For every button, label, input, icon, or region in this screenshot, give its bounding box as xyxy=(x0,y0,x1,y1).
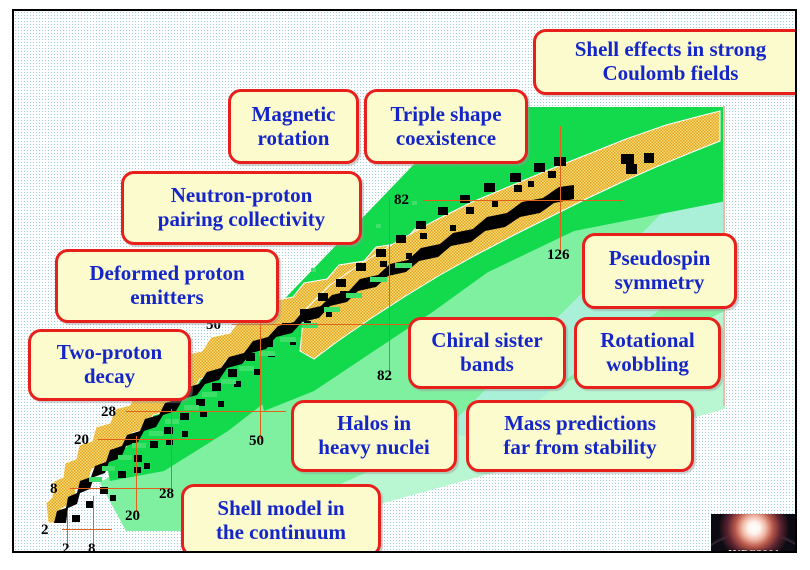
callout-line: Coulomb fields xyxy=(569,62,773,86)
callout-halos-heavy-nuclei[interactable]: Halos in heavy nuclei xyxy=(291,400,457,472)
callout-line: decay xyxy=(51,365,168,389)
callout-triple-shape-coexistence[interactable]: Triple shape coexistence xyxy=(364,89,528,164)
magic-line-n-28 xyxy=(171,409,172,493)
slide-frame: 2 8 20 28 50 82 2 8 20 28 50 82 126 Shel… xyxy=(12,9,797,553)
callout-shell-model-continuum[interactable]: Shell model in the continuum xyxy=(181,484,381,553)
magic-label-n-82: 82 xyxy=(377,369,392,384)
magic-line-n-82 xyxy=(389,197,390,375)
magic-line-n-50 xyxy=(260,321,261,439)
magic-line-n-20 xyxy=(136,436,137,512)
callout-line: Rotational xyxy=(594,329,701,353)
callout-line: wobbling xyxy=(594,353,701,377)
callout-line: Chiral sister xyxy=(425,329,548,353)
magic-label-n-50: 50 xyxy=(249,434,264,449)
magic-line-z-8 xyxy=(70,488,170,489)
callout-chiral-sister-bands[interactable]: Chiral sister bands xyxy=(408,317,566,389)
callout-shell-effects-label: Shell effects in strong Coulomb fields xyxy=(563,38,779,85)
magic-line-n-8 xyxy=(93,496,94,546)
callout-halos-label: Halos in heavy nuclei xyxy=(306,412,441,459)
magic-label-n-28: 28 xyxy=(159,487,174,502)
callout-line: Mass predictions xyxy=(497,412,662,436)
magic-line-z-82 xyxy=(423,200,623,201)
callout-shell-effects[interactable]: Shell effects in strong Coulomb fields xyxy=(533,29,797,95)
callout-triple-shape-label: Triple shape coexistence xyxy=(378,103,513,150)
magic-label-n-8: 8 xyxy=(88,542,96,553)
callout-line: pairing collectivity xyxy=(152,208,331,232)
callout-line: symmetry xyxy=(603,271,717,295)
magic-line-z-2 xyxy=(62,529,112,530)
callout-deformed-proton-emitters[interactable]: Deformed proton emitters xyxy=(55,249,279,323)
magic-line-z-20 xyxy=(98,439,213,440)
callout-deformed-proton-label: Deformed proton emitters xyxy=(77,262,256,309)
callout-rotational-wobbling-label: Rotational wobbling xyxy=(588,329,707,376)
callout-np-pairing-label: Neutron-proton pairing collectivity xyxy=(146,184,337,231)
logo-text: INPC2001 xyxy=(711,548,797,553)
callout-pseudospin-symmetry[interactable]: Pseudospin symmetry xyxy=(582,233,737,309)
magic-label-z-82: 82 xyxy=(394,193,409,208)
callout-two-proton-decay[interactable]: Two-proton decay xyxy=(28,329,191,401)
callout-line: Deformed proton xyxy=(83,262,250,286)
magic-label-z-20: 20 xyxy=(74,433,89,448)
magic-label-n-2: 2 xyxy=(62,542,70,553)
callout-line: Magnetic xyxy=(246,103,342,127)
callout-line: coexistence xyxy=(384,127,507,151)
callout-line: Shell effects in strong xyxy=(569,38,773,62)
magic-label-n-126: 126 xyxy=(547,248,570,263)
callout-line: Halos in xyxy=(312,412,435,436)
callout-mass-predictions[interactable]: Mass predictions far from stability xyxy=(466,400,694,472)
callout-two-proton-decay-label: Two-proton decay xyxy=(45,341,174,388)
callout-line: Two-proton xyxy=(51,341,168,365)
callout-rotational-wobbling[interactable]: Rotational wobbling xyxy=(574,317,721,389)
callout-line: bands xyxy=(425,353,548,377)
callout-line: rotation xyxy=(246,127,342,151)
callout-line: Pseudospin xyxy=(603,247,717,271)
callout-line: Triple shape xyxy=(384,103,507,127)
callout-line: emitters xyxy=(83,286,250,310)
callout-line: Shell model in xyxy=(210,497,352,521)
magic-label-z-2: 2 xyxy=(41,523,49,538)
callout-np-pairing[interactable]: Neutron-proton pairing collectivity xyxy=(121,171,362,245)
callout-mass-predictions-label: Mass predictions far from stability xyxy=(491,412,668,459)
callout-magnetic-rotation-label: Magnetic rotation xyxy=(240,103,348,150)
magic-label-z-8: 8 xyxy=(50,482,58,497)
callout-shell-model-label: Shell model in the continuum xyxy=(204,497,358,544)
callout-chiral-sister-label: Chiral sister bands xyxy=(419,329,554,376)
callout-line: heavy nuclei xyxy=(312,436,435,460)
magic-label-n-20: 20 xyxy=(125,509,140,524)
callout-magnetic-rotation[interactable]: Magnetic rotation xyxy=(228,89,359,164)
magic-line-z-28 xyxy=(126,411,286,412)
inpc2001-logo: INPC2001 xyxy=(711,514,797,553)
slide-root: 2 8 20 28 50 82 2 8 20 28 50 82 126 Shel… xyxy=(0,0,810,570)
magic-line-n-126 xyxy=(560,126,561,254)
callout-line: Neutron-proton xyxy=(152,184,331,208)
callout-line: far from stability xyxy=(497,436,662,460)
callout-line: the continuum xyxy=(210,521,352,545)
magic-label-z-28: 28 xyxy=(101,405,116,420)
callout-pseudospin-label: Pseudospin symmetry xyxy=(597,247,723,294)
